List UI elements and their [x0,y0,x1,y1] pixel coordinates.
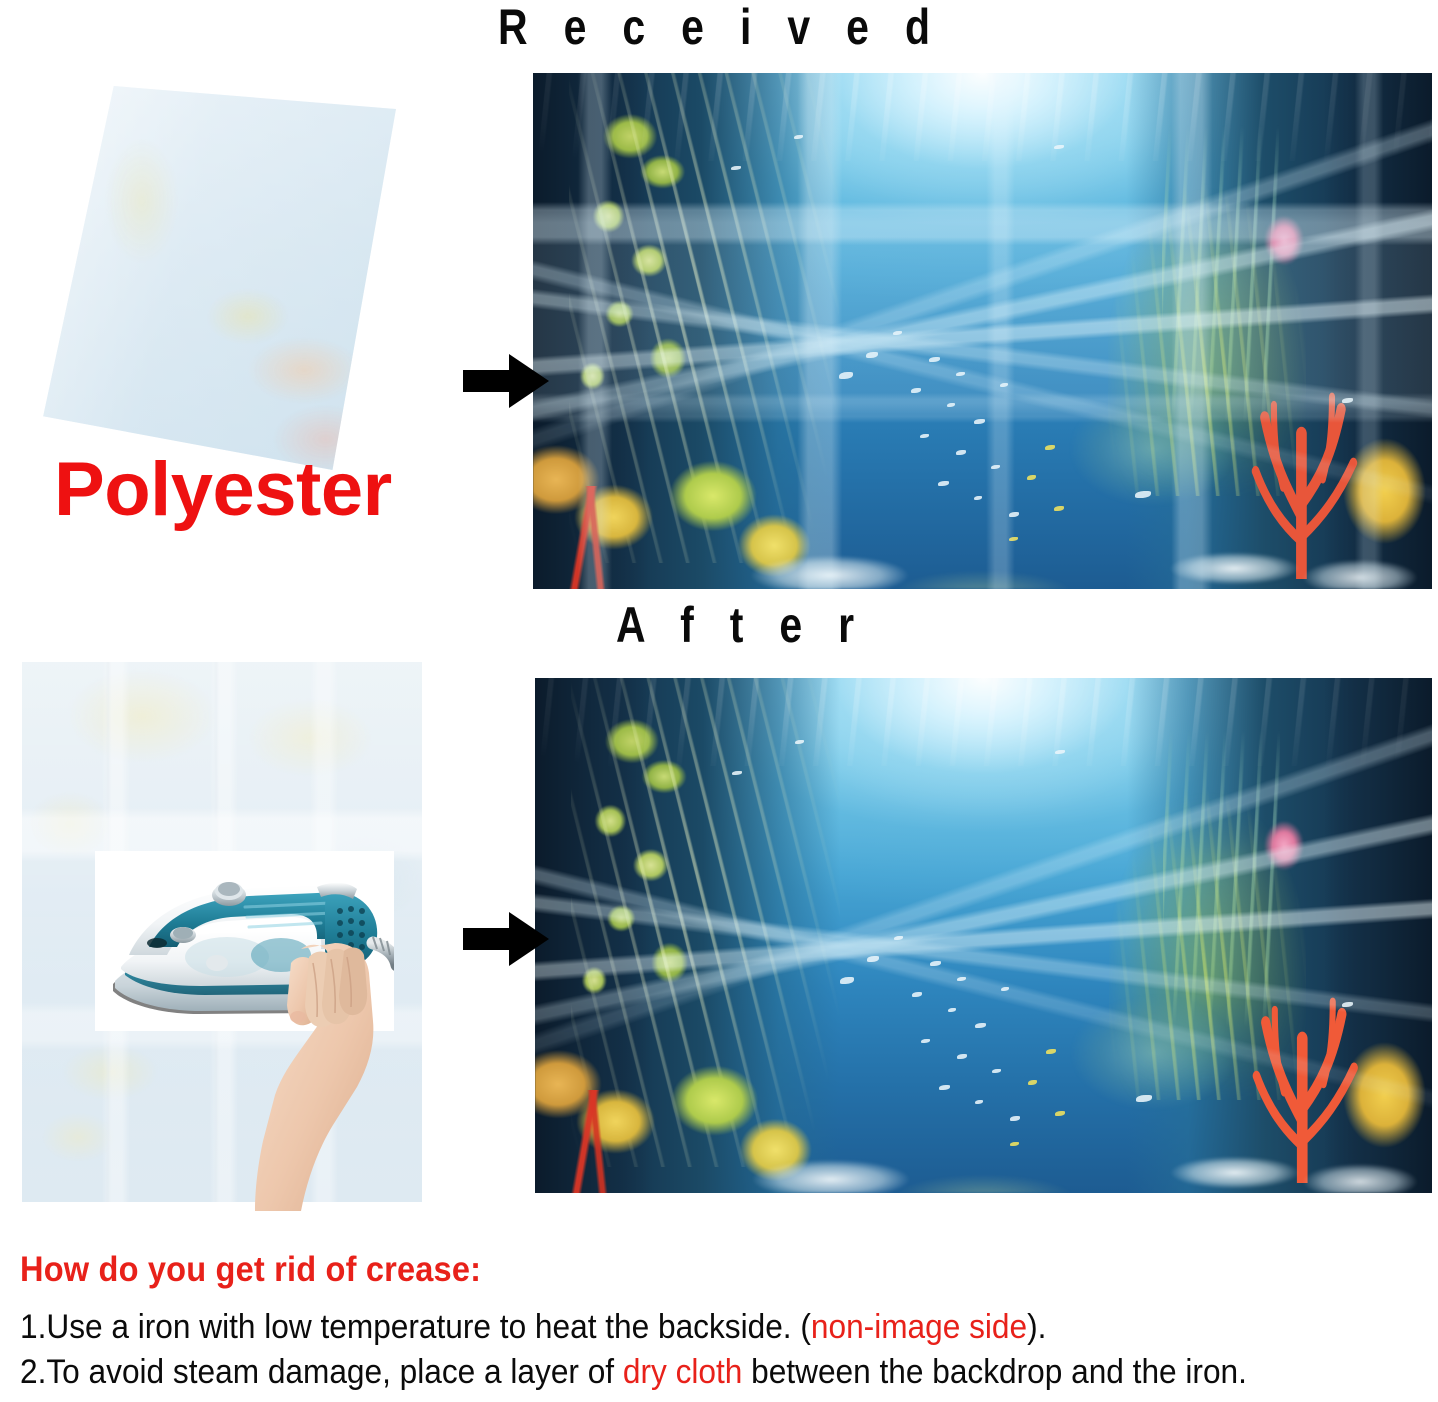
instruction-2-highlight: dry cloth [623,1353,743,1391]
received-heading: R e c e i v e d [498,2,942,52]
right-arrow-icon [461,350,551,412]
fabric-fold-edge [43,86,396,470]
iron-photo-card [95,851,394,1031]
instruction-1-suffix: ). [1027,1308,1046,1346]
instruction-1-prefix: 1.Use a iron with low temperature to hea… [20,1308,811,1346]
reef-fish-school-after [535,678,1432,1193]
folded-fabric-roll-image [18,78,438,478]
instructions-title: How do you get rid of crease: [20,1252,1322,1289]
received-backdrop-image [533,73,1432,589]
after-heading: A f t e r [616,600,866,650]
right-arrow-icon-after [461,908,551,970]
after-backdrop-image [535,678,1432,1193]
instruction-line-2: 2.To avoid steam damage, place a layer o… [20,1350,1322,1395]
instruction-2-prefix: 2.To avoid steam damage, place a layer o… [20,1353,623,1391]
instruction-2-suffix: between the backdrop and the iron. [742,1353,1247,1391]
instruction-line-1: 1.Use a iron with low temperature to hea… [20,1305,1322,1350]
polyester-material-label: Polyester [54,452,392,528]
reef-fish-school [533,73,1432,589]
instructions-block: How do you get rid of crease: 1.Use a ir… [20,1252,1420,1395]
instruction-1-highlight: non-image side [811,1308,1027,1346]
